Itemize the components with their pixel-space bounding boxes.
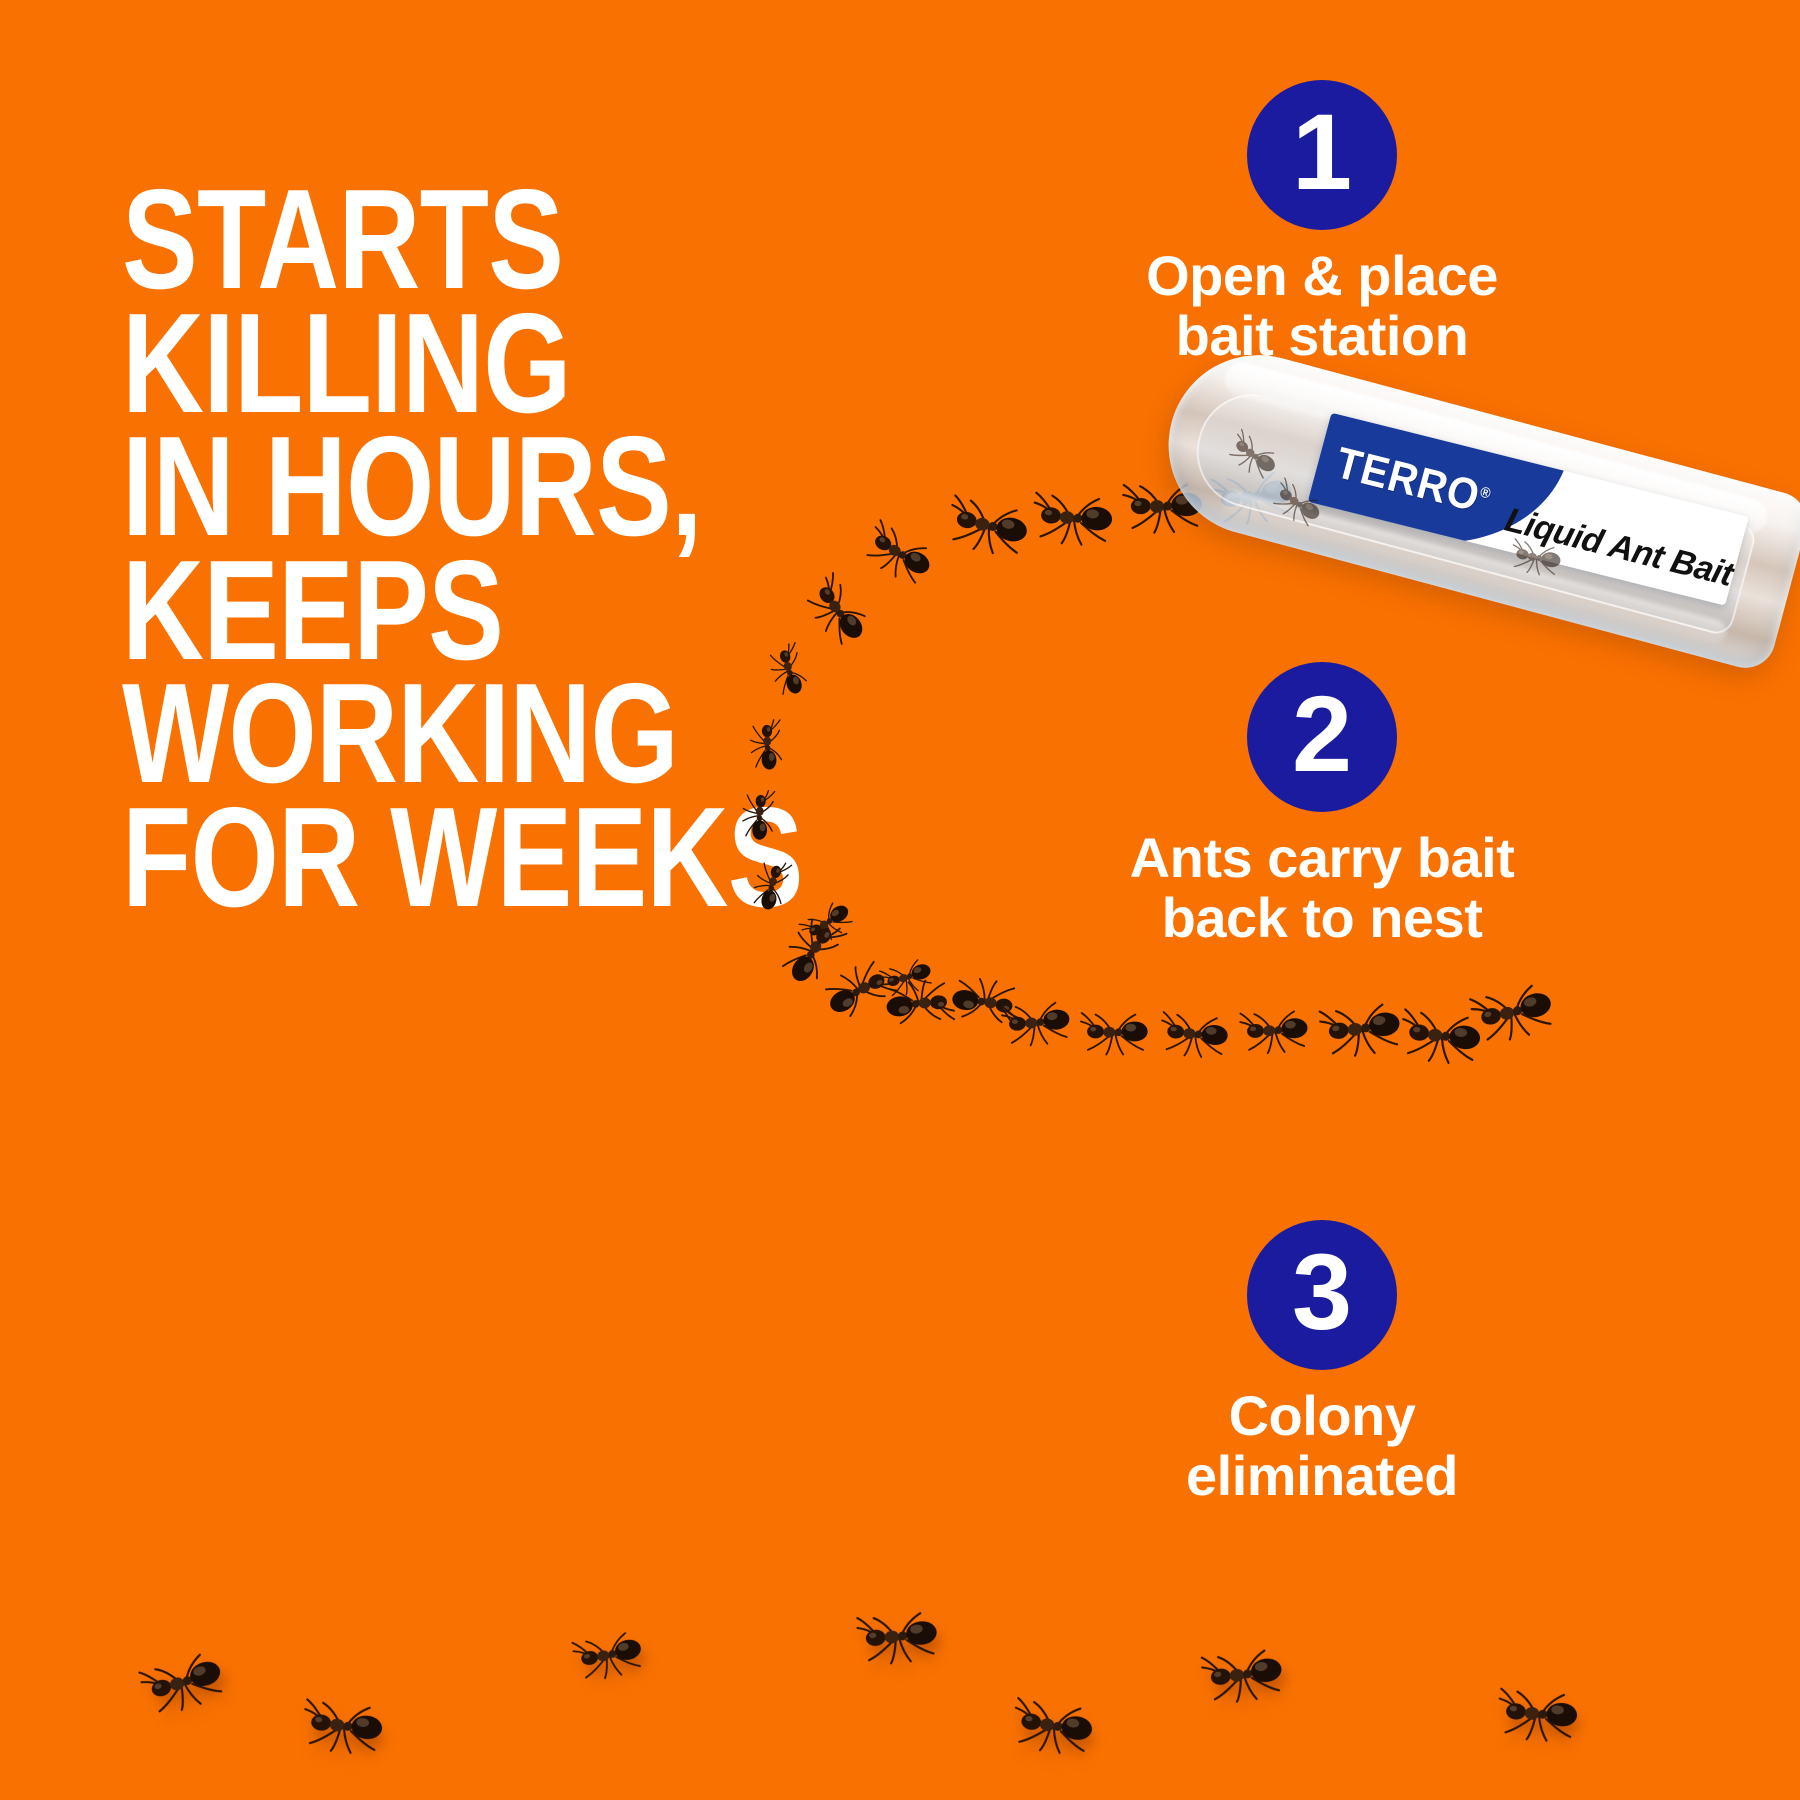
product-subtitle: Liquid Ant Bait xyxy=(1501,501,1737,595)
ant-icon xyxy=(1236,1005,1317,1056)
headline: STARTS KILLING IN HOURS, KEEPS WORKING F… xyxy=(122,178,962,919)
step-1-badge: 1 xyxy=(1247,80,1397,230)
brand-wordmark: TERRO® xyxy=(1330,438,1496,524)
step-3-badge: 3 xyxy=(1247,1220,1397,1370)
ant-icon xyxy=(748,717,786,777)
step-1-label: Open & place bait station xyxy=(1062,246,1582,367)
step-3: 3 Colony eliminated xyxy=(1062,1220,1582,1507)
step-3-label: Colony eliminated xyxy=(1062,1386,1582,1507)
step-2-badge: 2 xyxy=(1247,662,1397,812)
headline-line-6: FOR WEEKS xyxy=(122,796,794,920)
registered-mark: ® xyxy=(1478,484,1493,503)
ant-icon xyxy=(1207,464,1306,530)
ant-icon xyxy=(1007,1694,1106,1760)
ant-icon xyxy=(1028,489,1124,549)
product-label: TERRO® Liquid Ant Bait xyxy=(1308,413,1749,606)
poster-canvas: STARTS KILLING IN HOURS, KEEPS WORKING F… xyxy=(0,0,1800,1800)
label-blue-swoosh xyxy=(1308,413,1568,573)
ant-icon xyxy=(297,1695,394,1758)
ant-icon xyxy=(1156,1009,1238,1062)
ant-icon xyxy=(1119,478,1213,535)
ant-icon xyxy=(741,787,777,846)
ant-icon xyxy=(852,1605,949,1668)
step-2: 2 Ants carry bait back to nest xyxy=(1062,662,1582,949)
ant-icon xyxy=(998,996,1080,1050)
step-2-label: Ants carry bait back to nest xyxy=(1062,828,1582,949)
ant-icon xyxy=(1465,975,1567,1050)
ant-icon xyxy=(1506,536,1569,580)
ant-icon xyxy=(568,1624,654,1685)
ant-icon xyxy=(134,1642,238,1722)
step-1: 1 Open & place bait station xyxy=(1062,80,1582,367)
ant-icon xyxy=(1078,1010,1156,1056)
brand-name: TERRO xyxy=(1331,438,1486,521)
ant-icon xyxy=(1197,1642,1296,1708)
ant-icon xyxy=(1493,1685,1589,1745)
